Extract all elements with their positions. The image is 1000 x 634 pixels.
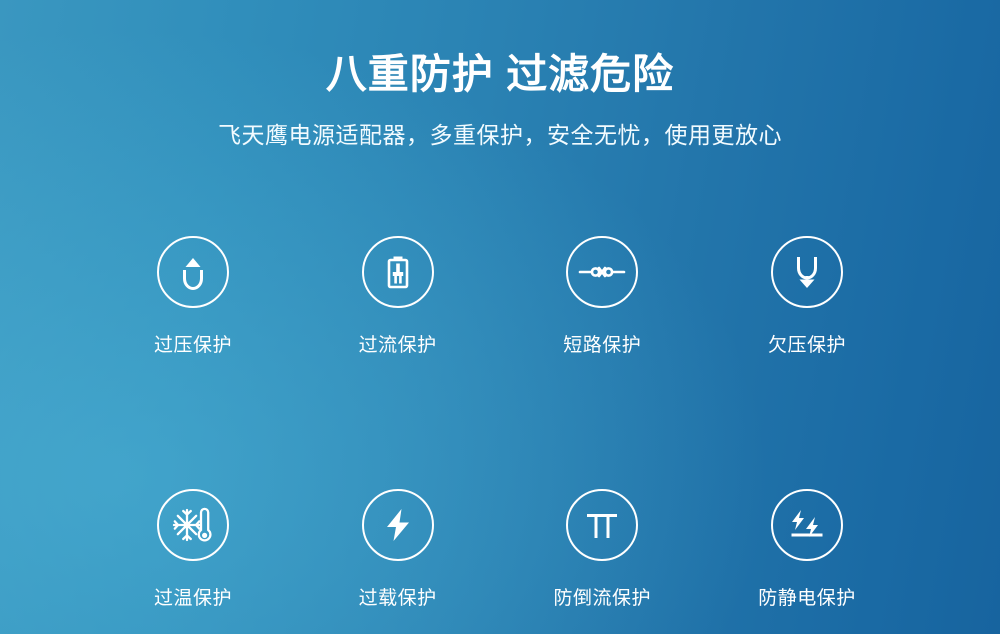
overcurrent-battery-plug-icon bbox=[362, 236, 434, 308]
overload-lightning-bolt-icon bbox=[362, 489, 434, 561]
banner-content: 八重防护 过滤危险 飞天鹰电源适配器，多重保护，安全无忧，使用更放心 过压保护 bbox=[0, 0, 1000, 634]
feature-grid: 过压保护 过流保护 bbox=[93, 236, 907, 610]
feature-item-overload: 过载保护 bbox=[298, 489, 498, 610]
feature-item-undervoltage: 欠压保护 bbox=[707, 236, 907, 357]
anti-static-double-bolt-ground-icon bbox=[771, 489, 843, 561]
feature-label: 过温保护 bbox=[154, 583, 232, 610]
feature-item-overvoltage: 过压保护 bbox=[93, 236, 293, 357]
feature-label: 防倒流保护 bbox=[554, 583, 652, 610]
feature-label: 过载保护 bbox=[359, 583, 437, 610]
feature-banner: 八重防护 过滤危险 飞天鹰电源适配器，多重保护，安全无忧，使用更放心 过压保护 bbox=[0, 0, 1000, 634]
anti-backflow-pi-icon bbox=[566, 489, 638, 561]
feature-row-1: 过压保护 过流保护 bbox=[93, 236, 907, 357]
short-circuit-line-x-icon bbox=[566, 236, 638, 308]
banner-subtitle: 飞天鹰电源适配器，多重保护，安全无忧，使用更放心 bbox=[0, 121, 1000, 150]
overvoltage-u-up-arrow-icon bbox=[157, 236, 229, 308]
undervoltage-u-down-arrow-icon bbox=[771, 236, 843, 308]
feature-item-anti-backflow: 防倒流保护 bbox=[502, 489, 702, 610]
feature-label: 过流保护 bbox=[359, 330, 437, 357]
feature-item-anti-static: 防静电保护 bbox=[707, 489, 907, 610]
feature-label: 过压保护 bbox=[154, 330, 232, 357]
feature-row-2: 过温保护 过载保护 bbox=[93, 489, 907, 610]
over-temperature-snowflake-thermometer-icon bbox=[157, 489, 229, 561]
feature-label: 欠压保护 bbox=[768, 330, 846, 357]
feature-item-overcurrent: 过流保护 bbox=[298, 236, 498, 357]
feature-label: 防静电保护 bbox=[758, 583, 856, 610]
feature-item-short-circuit: 短路保护 bbox=[502, 236, 702, 357]
feature-label: 短路保护 bbox=[563, 330, 641, 357]
feature-item-over-temperature: 过温保护 bbox=[93, 489, 293, 610]
banner-title: 八重防护 过滤危险 bbox=[0, 52, 1000, 97]
